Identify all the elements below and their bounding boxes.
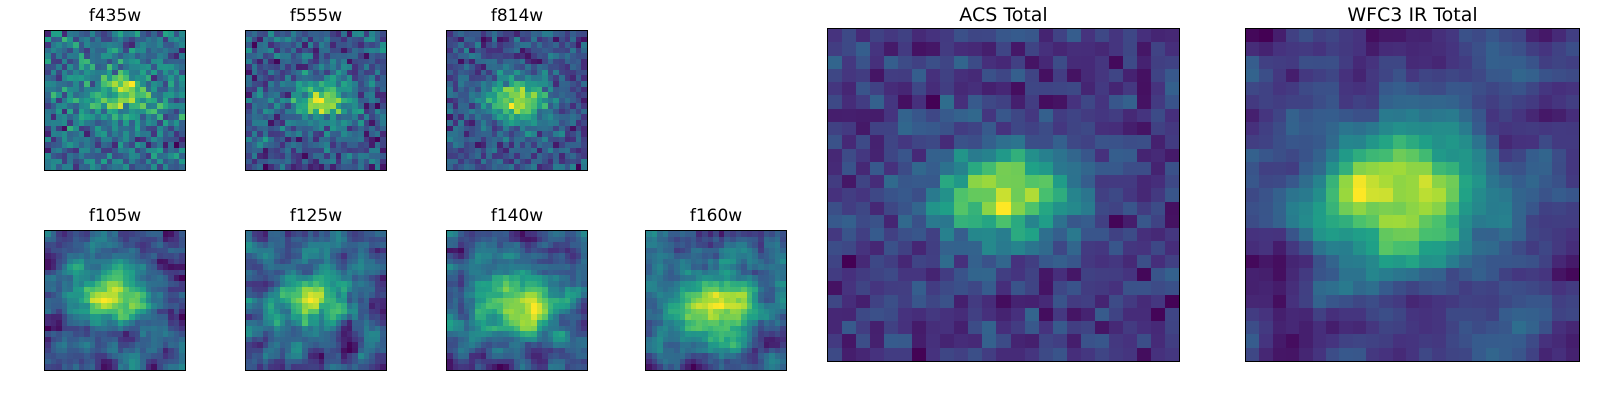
ytick-mark: [1245, 89, 1246, 90]
xtick-mark: [563, 370, 564, 371]
ytick-mark: [245, 56, 246, 57]
ytick-mark: [827, 356, 828, 357]
xtick-mark: [649, 370, 650, 371]
ytick-mark: [645, 256, 646, 257]
axes-f814w: 0510152005101520: [446, 30, 588, 171]
heatmap-f140w: [447, 231, 587, 370]
heatmap-f160w: [646, 231, 786, 370]
ytick-mark: [44, 285, 45, 286]
xtick-mark: [1521, 361, 1522, 362]
xtick-mark: [105, 170, 106, 171]
xtick-mark: [334, 170, 335, 171]
panel-title-acs_total: ACS Total: [827, 6, 1180, 25]
axes-f435w: 0510152005101520: [44, 30, 186, 171]
ytick-mark: [446, 341, 447, 342]
xtick-mark: [734, 370, 735, 371]
ytick-mark: [446, 113, 447, 114]
ytick-mark: [44, 313, 45, 314]
heatmap-f435w: [45, 31, 185, 170]
xtick-mark: [1387, 361, 1388, 362]
panel-title-wfc3_ir_total: WFC3 IR Total: [1245, 6, 1580, 25]
xtick-mark: [161, 370, 162, 371]
xtick-mark: [334, 370, 335, 371]
heatmap-f125w: [246, 231, 386, 370]
xtick-mark: [48, 170, 49, 171]
ytick-mark: [446, 56, 447, 57]
axes-f160w: 0510152005101520: [645, 230, 787, 371]
xtick-mark: [105, 370, 106, 371]
ytick-mark: [44, 256, 45, 257]
ytick-mark: [827, 290, 828, 291]
xtick-mark: [450, 370, 451, 371]
ytick-mark: [446, 285, 447, 286]
axes-f555w: 0510152005101520: [245, 30, 387, 171]
ytick-mark: [245, 141, 246, 142]
xtick-mark: [1454, 361, 1455, 362]
xtick-mark: [48, 370, 49, 371]
xtick-mark: [450, 170, 451, 171]
ytick-mark: [645, 285, 646, 286]
axes-f125w: 0510152005101520: [245, 230, 387, 371]
ytick-mark: [44, 85, 45, 86]
ytick-mark: [1245, 356, 1246, 357]
xtick-mark: [249, 170, 250, 171]
xtick-mark: [362, 170, 363, 171]
ytick-mark: [645, 341, 646, 342]
panel-title-f125w: f125w: [245, 208, 387, 225]
ytick-mark: [446, 256, 447, 257]
ytick-mark: [446, 313, 447, 314]
panel-title-f160w: f160w: [645, 208, 787, 225]
ytick-mark: [245, 341, 246, 342]
xtick-mark: [563, 170, 564, 171]
axes-acs_total: 0510152005101520: [827, 28, 1180, 362]
axes-wfc3_ir_total: 0510152005101520: [1245, 28, 1580, 362]
heatmap-wfc3_ir_total: [1246, 29, 1579, 361]
heatmap-acs_total: [828, 29, 1179, 361]
xtick-mark: [762, 370, 763, 371]
xtick-mark: [306, 170, 307, 171]
ytick-mark: [44, 369, 45, 370]
heatmap-f555w: [246, 31, 386, 170]
heatmap-f814w: [447, 31, 587, 170]
ytick-mark: [245, 169, 246, 170]
xtick-mark: [976, 361, 977, 362]
xtick-mark: [306, 370, 307, 371]
ytick-mark: [44, 56, 45, 57]
ytick-mark: [245, 313, 246, 314]
ytick-mark: [245, 256, 246, 257]
ytick-mark: [645, 313, 646, 314]
panel-title-f140w: f140w: [446, 208, 588, 225]
panel-title-f435w: f435w: [44, 8, 186, 25]
xtick-mark: [161, 170, 162, 171]
ytick-mark: [245, 369, 246, 370]
xtick-mark: [76, 370, 77, 371]
ytick-mark: [446, 169, 447, 170]
xtick-mark: [277, 170, 278, 171]
ytick-mark: [446, 85, 447, 86]
ytick-mark: [44, 141, 45, 142]
panel-title-f105w: f105w: [44, 208, 186, 225]
xtick-mark: [1117, 361, 1118, 362]
ytick-mark: [44, 169, 45, 170]
xtick-mark: [277, 370, 278, 371]
xtick-mark: [835, 361, 836, 362]
xtick-mark: [906, 361, 907, 362]
xtick-mark: [1253, 361, 1254, 362]
axes-f105w: 0510152005101520: [44, 230, 186, 371]
ytick-mark: [245, 285, 246, 286]
panel-title-f814w: f814w: [446, 8, 588, 25]
ytick-mark: [245, 113, 246, 114]
ytick-mark: [645, 369, 646, 370]
axes-f140w: 0510152005101520: [446, 230, 588, 371]
heatmap-f105w: [45, 231, 185, 370]
xtick-mark: [1320, 361, 1321, 362]
ytick-mark: [1245, 156, 1246, 157]
xtick-mark: [507, 170, 508, 171]
xtick-mark: [535, 170, 536, 171]
xtick-mark: [478, 370, 479, 371]
ytick-mark: [446, 369, 447, 370]
ytick-mark: [245, 85, 246, 86]
ytick-mark: [44, 113, 45, 114]
xtick-mark: [706, 370, 707, 371]
xtick-mark: [1047, 361, 1048, 362]
xtick-mark: [76, 170, 77, 171]
xtick-mark: [478, 170, 479, 171]
xtick-mark: [133, 170, 134, 171]
xtick-mark: [133, 370, 134, 371]
ytick-mark: [1245, 290, 1246, 291]
ytick-mark: [446, 141, 447, 142]
panel-title-f555w: f555w: [245, 8, 387, 25]
ytick-mark: [44, 341, 45, 342]
ytick-mark: [827, 223, 828, 224]
ytick-mark: [1245, 223, 1246, 224]
xtick-mark: [507, 370, 508, 371]
ytick-mark: [827, 156, 828, 157]
figure-canvas: f435w0510152005101520f555w05101520051015…: [0, 0, 1600, 400]
ytick-mark: [827, 89, 828, 90]
xtick-mark: [535, 370, 536, 371]
xtick-mark: [362, 370, 363, 371]
xtick-mark: [249, 370, 250, 371]
xtick-mark: [677, 370, 678, 371]
